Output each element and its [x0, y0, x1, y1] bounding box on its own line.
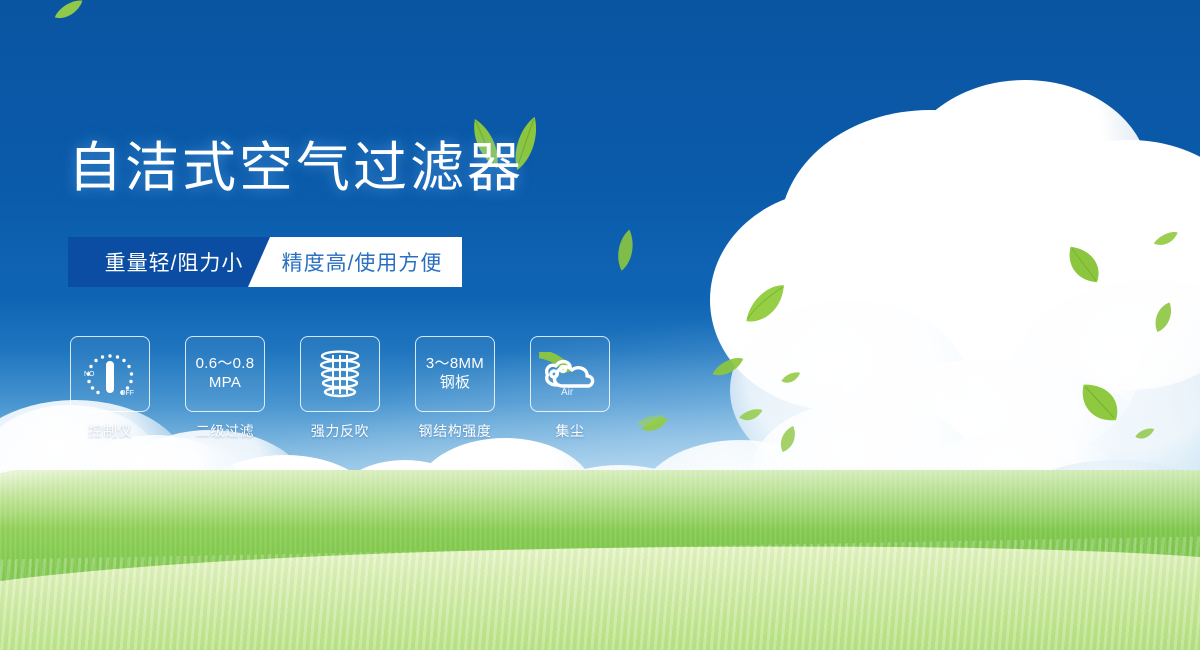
feature-two-stage-filter[interactable]: 0.6～0.8 MPA 二级过滤 — [185, 336, 265, 441]
feature-icon-box — [300, 336, 380, 412]
feature-label: 钢结构强度 — [419, 421, 492, 441]
tagline-badge: 重量轻/阻力小 精度高/使用方便 — [68, 237, 462, 287]
feature-label: 控制仪 — [88, 421, 132, 441]
feature-icon-box: 0.6～0.8 MPA — [185, 336, 265, 412]
tagline-left-text: 重量轻/阻力小 — [105, 247, 244, 277]
feature-control-panel[interactable]: NO OFF 控制仪 — [70, 336, 150, 441]
filter-cartridge-icon — [314, 347, 366, 401]
steel-value-line2: 钢板 — [440, 374, 471, 393]
feature-label: 强力反吹 — [311, 421, 369, 441]
dial-label-off: OFF — [120, 390, 134, 397]
feature-steel-strength[interactable]: 3～8MM 钢板 钢结构强度 — [415, 336, 495, 441]
dial-label-no: NO — [84, 371, 95, 378]
pressure-value-line1: 0.6～0.8 — [196, 355, 255, 374]
tagline-right-text: 精度高/使用方便 — [268, 247, 443, 277]
feature-dust-collection[interactable]: Air 集尘 — [530, 336, 610, 441]
tagline-left: 重量轻/阻力小 — [68, 237, 280, 287]
page-title: 自洁式空气过滤器 — [68, 140, 524, 197]
gauge-dial-icon: NO OFF — [81, 348, 139, 400]
feature-icon-box: Air — [530, 336, 610, 412]
feature-label: 二级过滤 — [196, 421, 254, 441]
product-banner: 自洁式空气过滤器 重量轻/阻力小 精度高/使用方便 — [0, 0, 1200, 650]
cloud-air-icon: Air — [539, 352, 601, 396]
feature-label: 集尘 — [555, 421, 584, 441]
feature-list: NO OFF 控制仪 0.6～0.8 MPA 二级过滤 — [70, 336, 610, 441]
pressure-value-line2: MPA — [209, 374, 241, 393]
feature-powerful-blowback[interactable]: 强力反吹 — [300, 336, 380, 441]
tagline-right: 精度高/使用方便 — [248, 237, 462, 287]
feature-icon-box: 3～8MM 钢板 — [415, 336, 495, 412]
grass-field — [0, 470, 1200, 650]
air-text: Air — [561, 387, 574, 396]
feature-icon-box: NO OFF — [70, 336, 150, 412]
steel-value-line1: 3～8MM — [426, 355, 484, 374]
